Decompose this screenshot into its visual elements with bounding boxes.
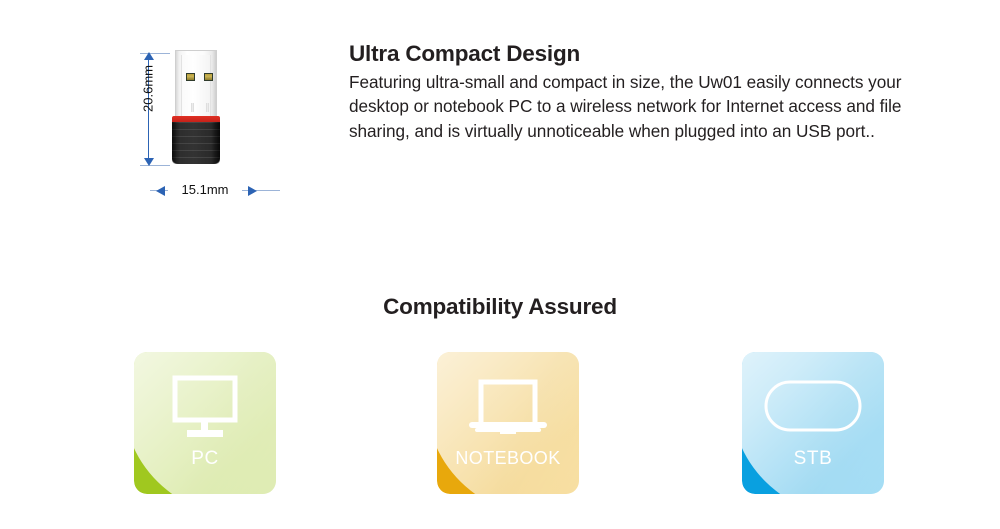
dimension-label-width: 15.1mm — [168, 182, 242, 197]
dimension-label-height: 20.6mm — [141, 49, 156, 129]
usb-body-shade-left — [172, 122, 180, 164]
arrow-down-icon — [144, 158, 154, 166]
usb-notch-right — [206, 103, 209, 112]
arrow-left-icon — [248, 186, 257, 196]
usb-notch-left — [191, 103, 194, 112]
compatibility-tile-notebook[interactable]: NOTEBOOK — [437, 352, 579, 494]
tile-background-stb — [742, 352, 884, 494]
usb-body-housing — [172, 122, 220, 164]
tile-background-notebook — [437, 352, 579, 494]
intro-block: Ultra Compact Design Featuring ultra-sma… — [349, 41, 939, 143]
usb-body-shade-right — [212, 122, 220, 164]
compatibility-tile-pc[interactable]: PC — [134, 352, 276, 494]
intro-body-text: Featuring ultra-small and compact in siz… — [349, 70, 939, 144]
compatibility-heading: Compatibility Assured — [0, 294, 1000, 320]
tile-background-pc — [134, 352, 276, 494]
arrow-right-icon — [156, 186, 165, 196]
intro-heading: Ultra Compact Design — [349, 41, 939, 67]
compatibility-tile-stb[interactable]: STB — [742, 352, 884, 494]
usb-contact-pad-left — [186, 73, 195, 81]
product-figure: 20.6mm 15.1mm — [130, 36, 310, 186]
usb-contact-pad-right — [204, 73, 213, 81]
compatibility-tiles: PC NOTEBOOK STB — [0, 352, 1000, 502]
usb-connector-shell — [175, 50, 217, 118]
usb-wifi-adapter-illustration — [172, 50, 220, 164]
